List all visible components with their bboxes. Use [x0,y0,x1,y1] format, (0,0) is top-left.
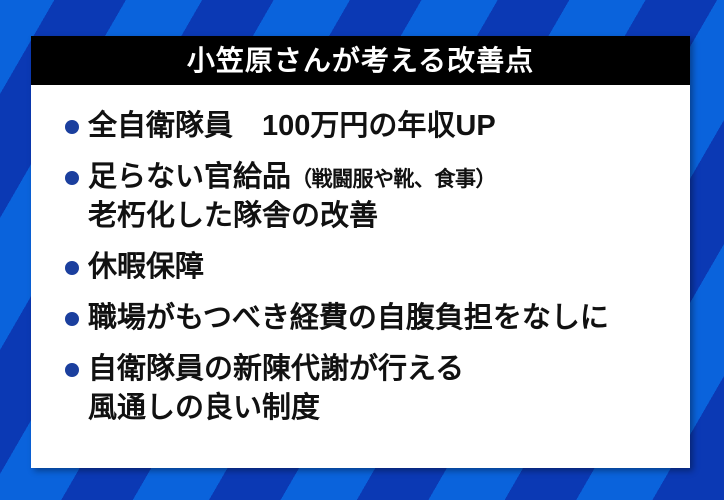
page-title: 小笠原さんが考える改善点 [187,47,534,75]
bullet-dot-icon [65,171,79,185]
list-item-text: 足らない官給品（戦闘服や靴、食事） 老朽化した隊舎の改善 [88,158,496,235]
bullet-dot-icon [65,312,79,326]
list-item-text: 休暇保障 [88,248,204,286]
list-item-line2: 老朽化した隊舎の改善 [88,197,496,235]
list-item-text: 自衛隊員の新陳代謝が行える 風通しの良い制度 [88,350,464,427]
list-item: 全自衛隊員 100万円の年収UP [31,107,690,145]
list-item-line1: 自衛隊員の新陳代謝が行える [88,353,464,385]
list-item-text: 職場がもつべき経費の自腹負担をなしに [88,299,609,337]
list-item: 足らない官給品（戦闘服や靴、食事） 老朽化した隊舎の改善 [31,158,690,235]
list-item-line1: 職場がもつべき経費の自腹負担をなしに [88,302,609,334]
list-item-annotation: （戦闘服や靴、食事） [291,168,496,191]
slide-card: 小笠原さんが考える改善点 全自衛隊員 100万円の年収UP 足らない官給品（戦闘… [31,36,690,468]
improvement-points-list: 全自衛隊員 100万円の年収UP 足らない官給品（戦闘服や靴、食事） 老朽化した… [31,85,690,427]
bullet-dot-icon [65,363,79,377]
slide-title-bar: 小笠原さんが考える改善点 [31,36,690,85]
list-item-line1: 休暇保障 [88,251,204,283]
list-item: 休暇保障 [31,248,690,286]
bullet-dot-icon [65,261,79,275]
bullet-dot-icon [65,120,79,134]
list-item-line1: 全自衛隊員 100万円の年収UP [88,110,496,142]
list-item-text: 全自衛隊員 100万円の年収UP [88,107,496,145]
list-item: 職場がもつべき経費の自腹負担をなしに [31,299,690,337]
list-item: 自衛隊員の新陳代謝が行える 風通しの良い制度 [31,350,690,427]
list-item-line2: 風通しの良い制度 [88,389,464,427]
list-item-line1: 足らない官給品 [88,161,291,193]
